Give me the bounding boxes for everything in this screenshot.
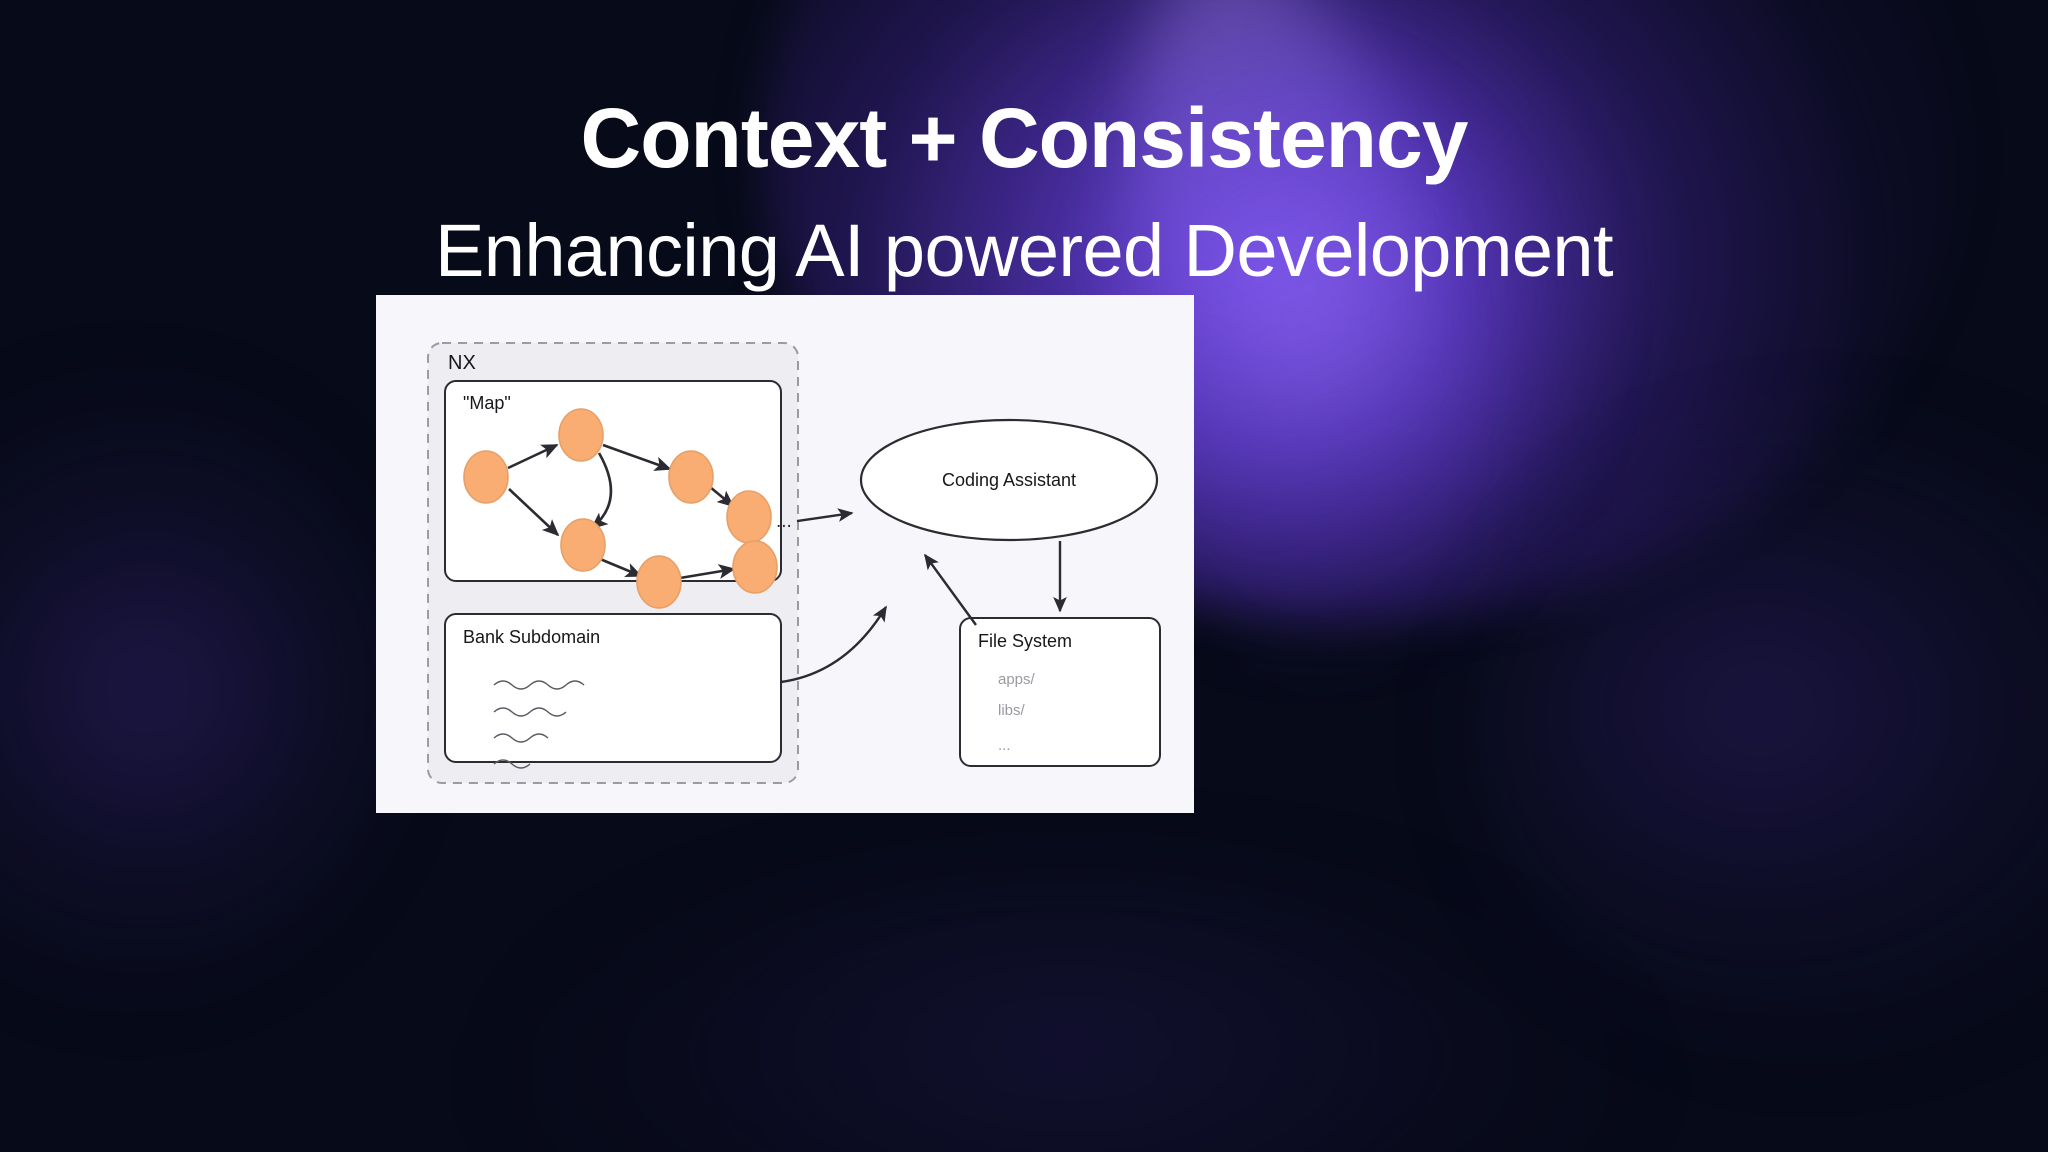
glow-left [0, 380, 400, 1000]
map-box-label: "Map" [463, 393, 511, 413]
connector-filesystem-to-assistant [925, 555, 976, 625]
glow-bottom [520, 880, 1620, 1152]
file-system-entry-more: ... [998, 737, 1011, 754]
file-system-box[interactable]: File System apps/ libs/ ... [960, 618, 1160, 766]
bank-box-label: Bank Subdomain [463, 627, 600, 647]
coding-assistant-node[interactable]: Coding Assistant [861, 420, 1157, 540]
bank-subdomain-box[interactable]: Bank Subdomain [445, 614, 781, 768]
graph-node-n4 [727, 491, 771, 543]
map-box[interactable]: "Map" ... [445, 381, 792, 608]
map-graph-ellipsis: ... [776, 511, 792, 532]
file-system-entry-libs: libs/ [998, 702, 1026, 719]
diagram-panel: NX "Map" [376, 295, 1194, 813]
architecture-diagram: NX "Map" [376, 295, 1194, 813]
file-system-label: File System [978, 631, 1072, 651]
graph-node-n7 [733, 541, 777, 593]
glow-right-lower [1480, 430, 2048, 1050]
nx-group-label: NX [448, 352, 476, 374]
graph-node-n6 [637, 556, 681, 608]
graph-node-n3 [669, 451, 713, 503]
file-system-entry-apps: apps/ [998, 671, 1036, 688]
page-subtitle: Enhancing AI powered Development [0, 214, 2048, 288]
graph-node-n5 [561, 519, 605, 571]
coding-assistant-label: Coding Assistant [942, 470, 1076, 490]
graph-node-n2 [559, 409, 603, 461]
graph-node-n1 [464, 451, 508, 503]
connector-map-to-assistant [797, 513, 852, 521]
page-title: Context + Consistency [0, 96, 2048, 180]
slide-header: Context + Consistency Enhancing AI power… [0, 96, 2048, 288]
